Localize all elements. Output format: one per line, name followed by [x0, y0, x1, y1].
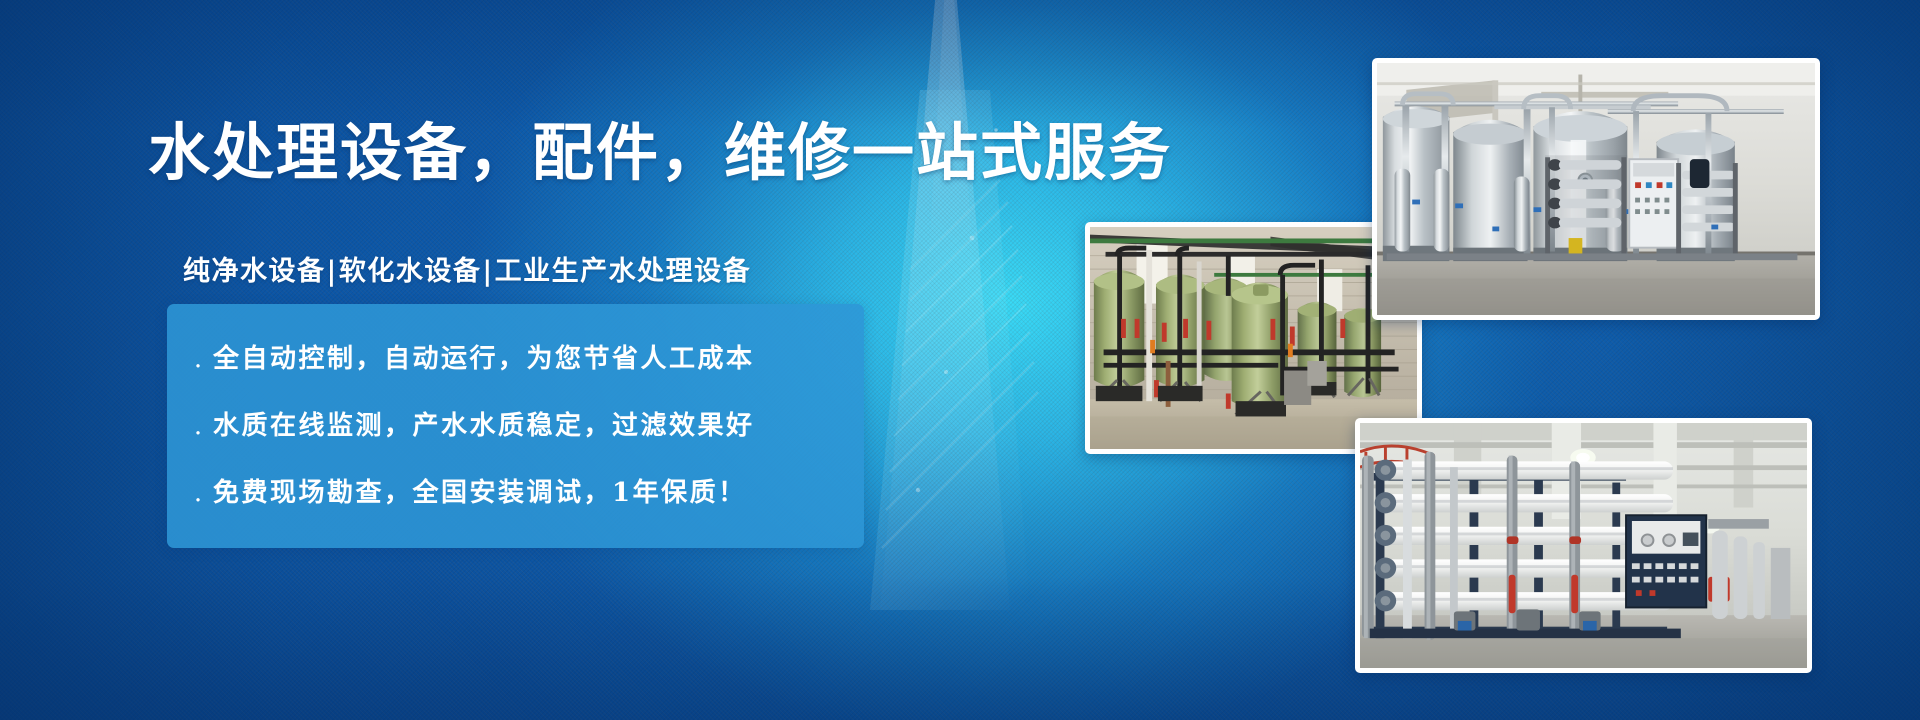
feature-highlight-box: . 全自动控制，自动运行，为您节省人工成本 . 水质在线监测，产水水质稳定，过滤…: [167, 304, 864, 548]
bullet-icon: .: [183, 478, 213, 508]
ro-rack-illustration: [1360, 423, 1807, 668]
feature-item: . 全自动控制，自动运行，为您节省人工成本: [183, 338, 864, 396]
subheadline-part-3: 工业生产水处理设备: [495, 256, 752, 287]
hero-banner: 水处理设备，配件，维修一站式服务 纯净水设备|软化水设备|工业生产水处理设备 .…: [0, 0, 1920, 720]
feature-item: . 免费现场勘查，全国安装调试，1年保质！: [183, 472, 864, 530]
subheadline-part-2: 软化水设备: [339, 256, 482, 287]
subheadline-part-1: 纯净水设备: [183, 256, 326, 287]
subheadline-separator-1: |: [326, 256, 339, 287]
stainless-tanks-illustration: [1377, 63, 1815, 315]
feature-list: . 全自动控制，自动运行，为您节省人工成本 . 水质在线监测，产水水质稳定，过滤…: [167, 304, 864, 548]
feature-item: . 水质在线监测，产水水质稳定，过滤效果好: [183, 405, 864, 463]
banner-headline: 水处理设备，配件，维修一站式服务: [148, 120, 1172, 185]
green-tanks-illustration: [1090, 227, 1417, 449]
bullet-icon: .: [183, 411, 213, 441]
product-photo-ro-membrane-rack: [1355, 418, 1812, 673]
banner-subheadline: 纯净水设备|软化水设备|工业生产水处理设备: [183, 249, 751, 288]
subheadline-separator-2: |: [481, 256, 494, 287]
feature-item-label: 水质在线监测，产水水质稳定，过滤效果好: [213, 405, 755, 442]
product-photo-stainless-tanks: [1372, 58, 1820, 320]
banner-copy: 水处理设备，配件，维修一站式服务 纯净水设备|软化水设备|工业生产水处理设备 .…: [0, 0, 1000, 720]
feature-item-label: 全自动控制，自动运行，为您节省人工成本: [213, 338, 755, 375]
feature-item-label: 免费现场勘查，全国安装调试，1年保质！: [213, 472, 747, 509]
bullet-icon: .: [183, 344, 213, 374]
